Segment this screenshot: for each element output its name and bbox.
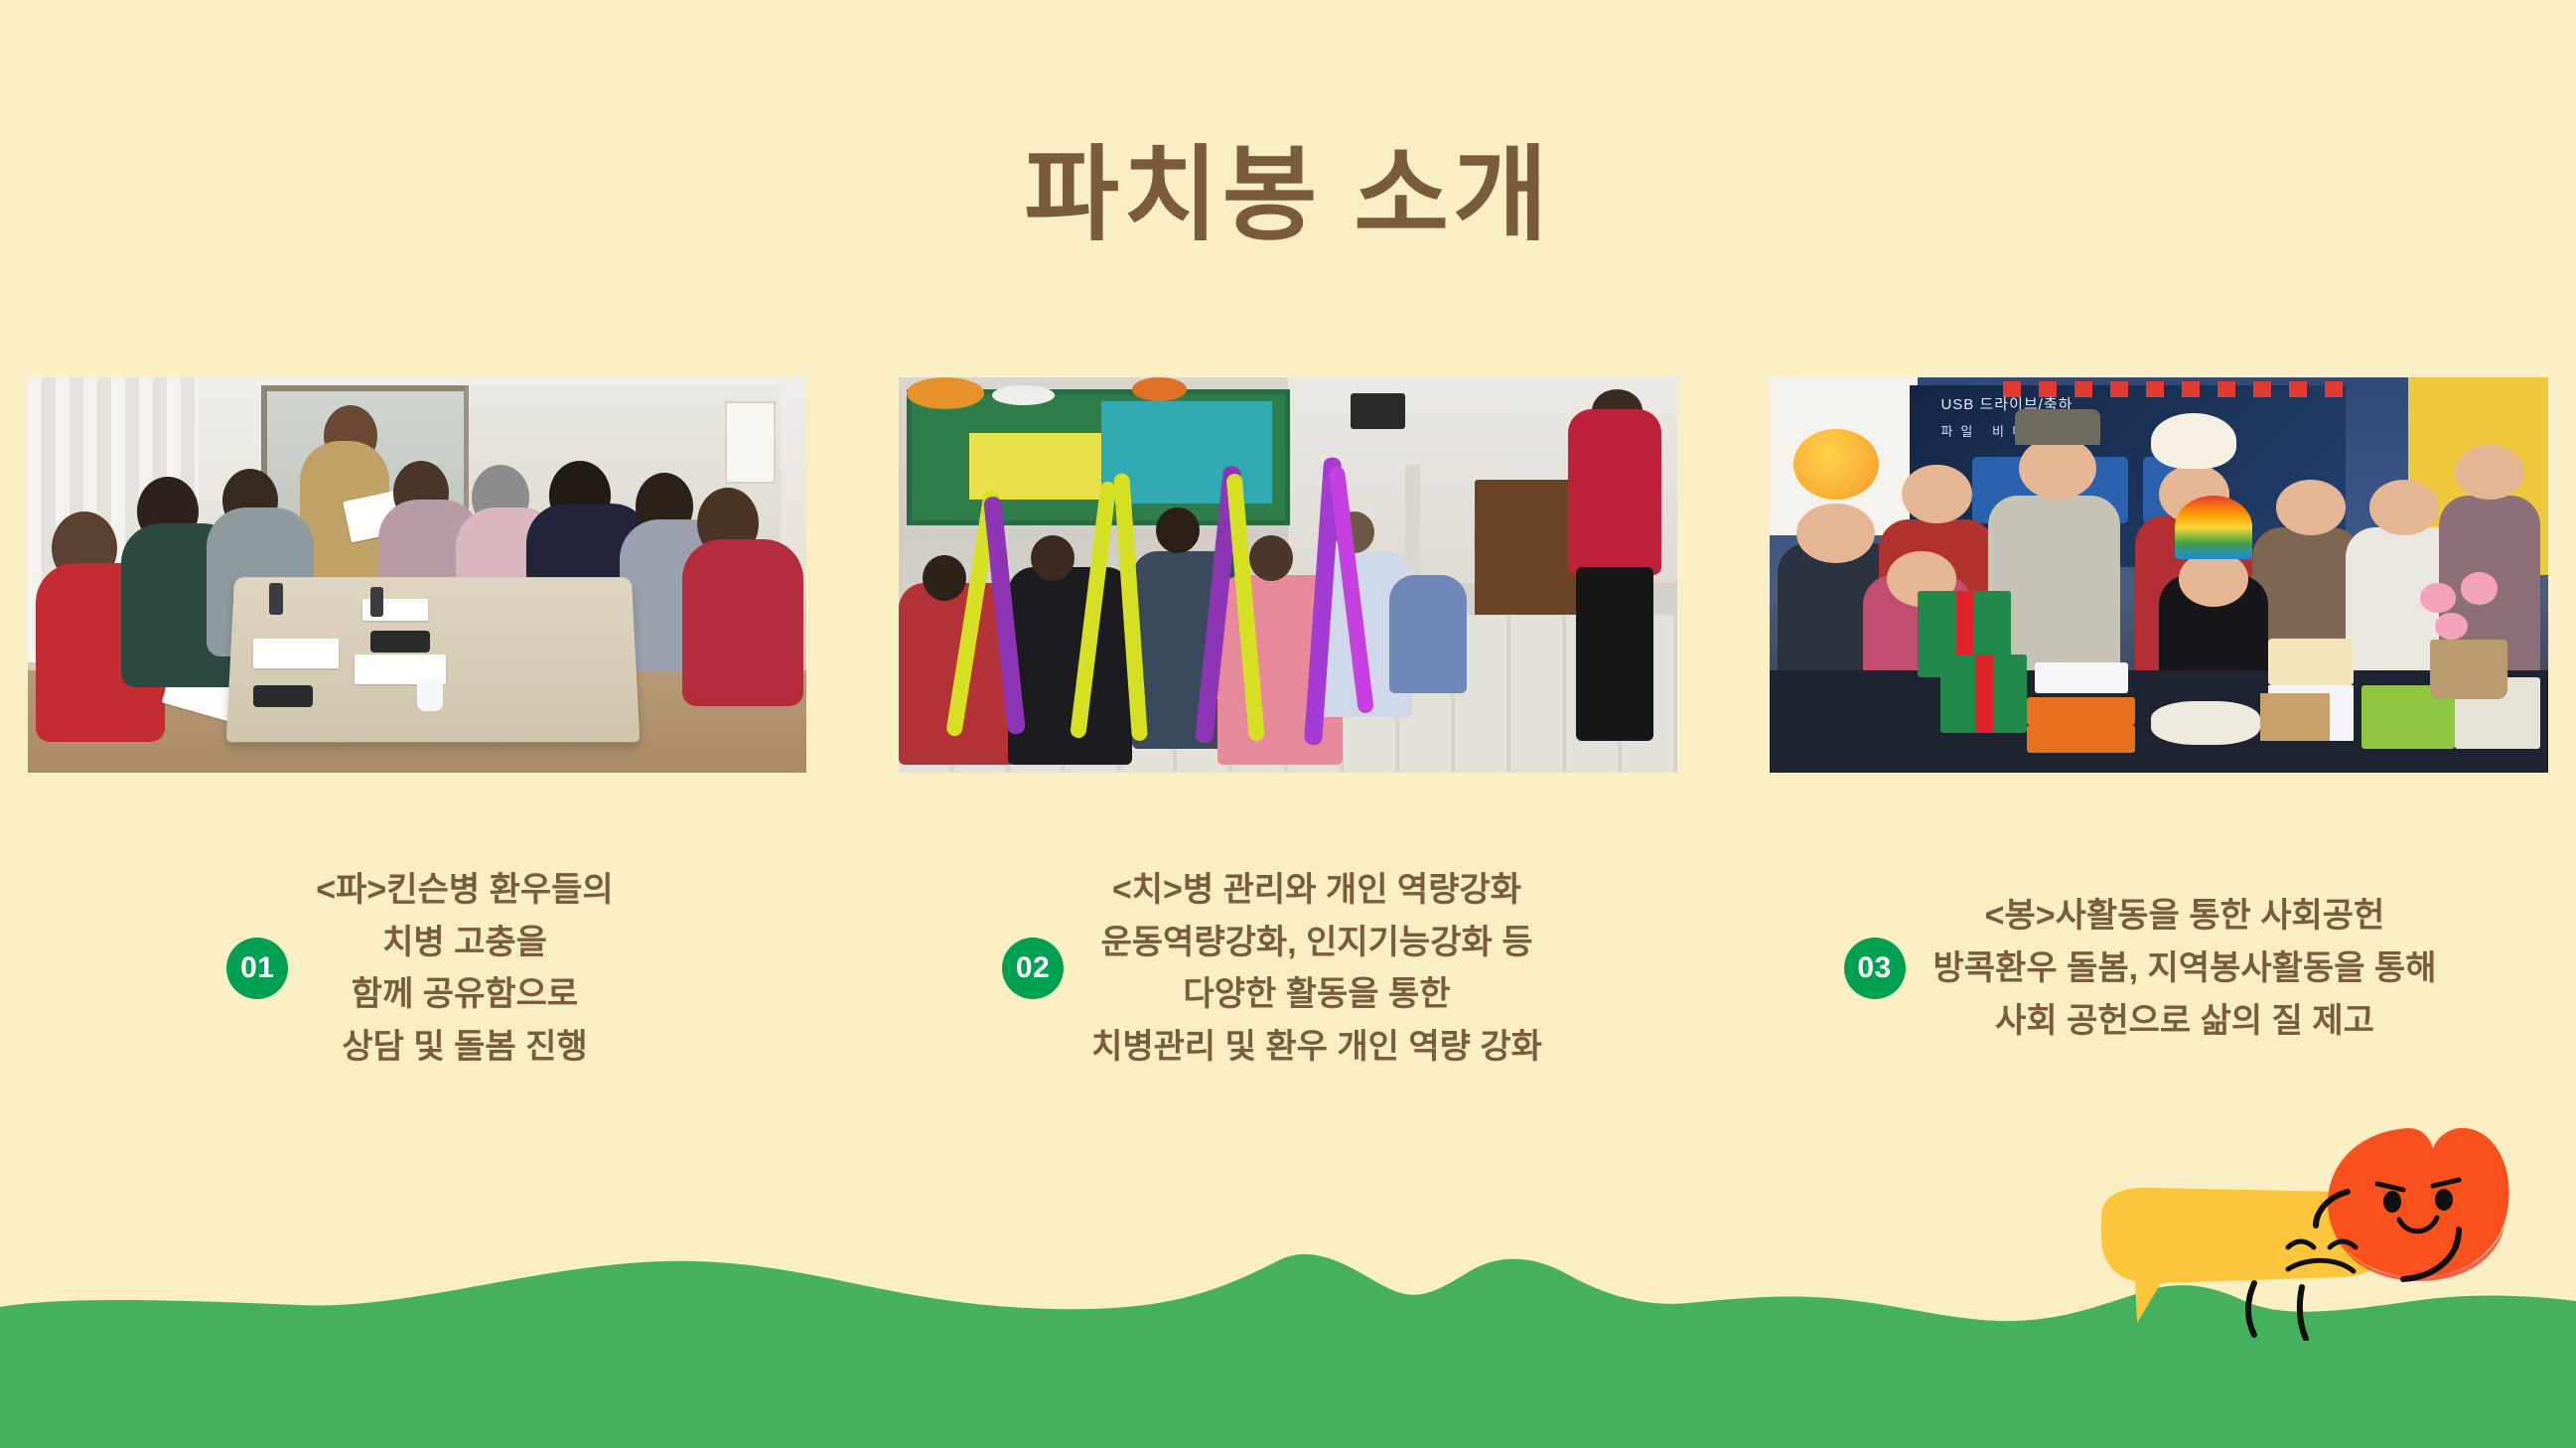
description-columns: 01 <파>킨슨병 환우들의 치병 고충을 함께 공유함으로 상담 및 돌봄 진…	[0, 864, 2576, 1074]
photo-birthday-celebration-group: USB 드라이브/축하 파일 비디오 사진	[1770, 377, 2548, 773]
description-02: <치>병 관리와 개인 역량강화 운동역량강화, 인지기능강화 등 다양한 활동…	[1091, 864, 1542, 1074]
description-03: <봉>사활동을 통한 사회공헌 방콕환우 돌봄, 지역봉사활동을 통해 사회 공…	[1933, 890, 2437, 1047]
column-01: 01 <파>킨슨병 환우들의 치병 고충을 함께 공유함으로 상담 및 돌봄 진…	[0, 864, 840, 1074]
mascot-blob-right-eye	[2435, 1189, 2453, 1211]
mascot-blob-head	[2328, 1128, 2509, 1277]
badge-02: 02	[1002, 938, 1064, 999]
photo-gallery: USB 드라이브/축하 파일 비디오 사진	[28, 377, 2548, 773]
description-01: <파>킨슨병 환우들의 치병 고충을 함께 공유함으로 상담 및 돌봄 진행	[316, 864, 613, 1074]
column-02: 02 <치>병 관리와 개인 역량강화 운동역량강화, 인지기능강화 등 다양한…	[840, 864, 1704, 1074]
badge-03: 03	[1844, 938, 1906, 999]
mascot-bubble-right-leg	[2300, 1287, 2306, 1339]
page-title: 파치봉 소개	[0, 139, 2576, 252]
photo-exercise-class-with-bands	[899, 377, 1677, 773]
photo-meeting-around-table	[28, 377, 806, 773]
speech-bubble-and-blob-mascot	[2050, 1112, 2516, 1341]
badge-01: 01	[226, 938, 288, 999]
column-03: 03 <봉>사활동을 통한 사회공헌 방콕환우 돌봄, 지역봉사활동을 통해 사…	[1704, 864, 2576, 1074]
slide-root: { "theme": { "background": "#FAEEC4", "t…	[0, 0, 2576, 1448]
mascot-blob-left-eye	[2383, 1191, 2401, 1213]
mascot-bubble-left-leg	[2248, 1283, 2254, 1335]
